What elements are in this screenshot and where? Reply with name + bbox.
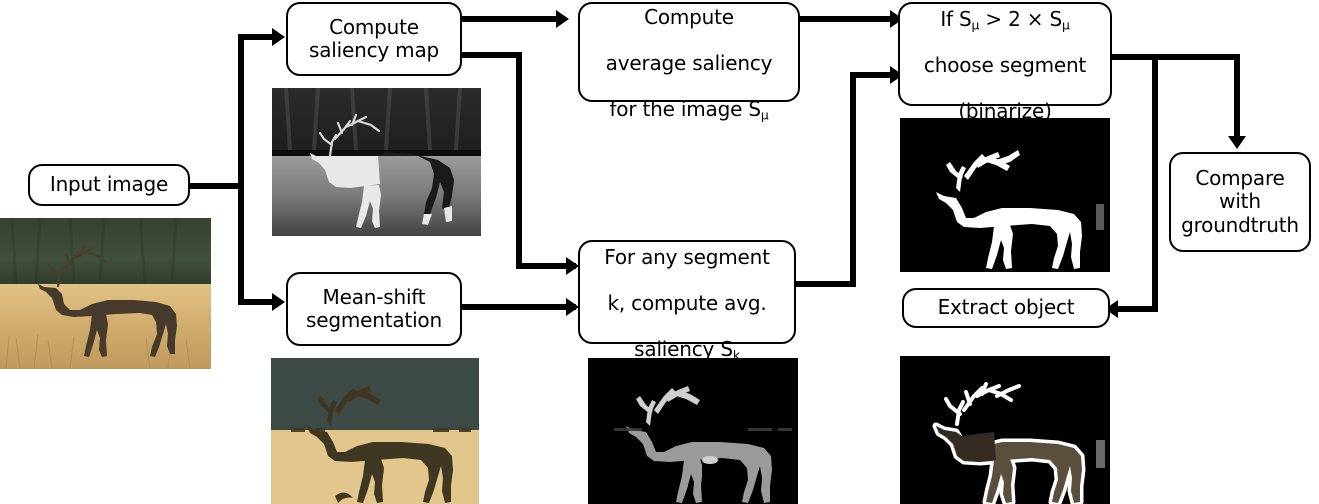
image-segment-saliency xyxy=(588,358,798,504)
edge-saliency-to-avg xyxy=(462,16,562,22)
image-extracted-object xyxy=(900,356,1110,504)
node-segment-average-saliency-label: For any segment k, compute avg. saliency… xyxy=(598,222,775,361)
image-meanshift-segmentation xyxy=(271,358,479,504)
arrowhead-to-compare xyxy=(1228,136,1246,149)
edge-segment-to-threshold-lower xyxy=(796,281,856,287)
image-saliency-map xyxy=(272,88,481,236)
edge-input-to-split xyxy=(189,183,244,189)
edge-avg-to-threshold xyxy=(800,16,898,22)
threshold-line-3: (binarize) xyxy=(958,99,1051,123)
node-input-image-label: Input image xyxy=(44,173,174,196)
arrowhead-to-meanshift xyxy=(272,293,285,311)
flowchart-canvas: Input image Compute saliency map Compute… xyxy=(0,0,1319,504)
node-compute-average-saliency-label: Compute average saliency for the image S… xyxy=(600,0,779,122)
edge-meanshift-to-segment xyxy=(462,304,576,310)
node-meanshift-segmentation[interactable]: Mean-shift segmentation xyxy=(286,272,462,346)
node-threshold-binarize-label: If Sμ > 2 × Sμ choose segment (binarize) xyxy=(918,0,1092,124)
image-input-photo xyxy=(0,218,211,369)
edge-saliency-to-segment-riser xyxy=(516,52,522,269)
node-compare-groundtruth-label: Compare with groundtruth xyxy=(1175,167,1305,237)
node-compute-saliency-map-label: Compute saliency map xyxy=(303,16,445,62)
edge-segment-to-threshold-riser xyxy=(850,72,856,287)
threshold-subscript-2: μ xyxy=(1062,17,1070,32)
arrowhead-to-avg-saliency xyxy=(556,10,569,28)
segment-line-3-subscript: k xyxy=(733,348,740,363)
avg-line-3: for the image Sμ xyxy=(609,97,768,121)
node-threshold-binarize[interactable]: If Sμ > 2 × Sμ choose segment (binarize) xyxy=(898,2,1112,106)
node-meanshift-segmentation-label: Mean-shift segmentation xyxy=(300,286,448,332)
avg-line-3-subscript: μ xyxy=(761,108,769,123)
node-input-image[interactable]: Input image xyxy=(28,164,190,206)
threshold-if-s: If S xyxy=(940,7,971,31)
avg-line-2: average saliency xyxy=(606,51,773,75)
edge-saliency-to-segment-top xyxy=(462,52,522,58)
segment-line-2: k, compute avg. xyxy=(607,291,766,315)
threshold-line-1: If Sμ > 2 × Sμ xyxy=(940,7,1069,31)
segment-line-3-text: saliency S xyxy=(634,337,733,361)
node-segment-average-saliency[interactable]: For any segment k, compute avg. saliency… xyxy=(578,240,796,344)
arrowhead-to-saliency-map xyxy=(272,28,285,46)
node-extract-object-label: Extract object xyxy=(932,296,1081,319)
edge-threshold-to-compare xyxy=(1234,54,1240,142)
segment-line-1: For any segment xyxy=(604,245,769,269)
edge-threshold-to-extract xyxy=(1116,306,1158,312)
image-binary-mask xyxy=(900,118,1110,272)
avg-line-3-text: for the image S xyxy=(609,97,760,121)
node-extract-object[interactable]: Extract object xyxy=(902,288,1110,328)
edge-split-riser xyxy=(238,37,244,302)
avg-line-1: Compute xyxy=(644,5,734,29)
node-compute-average-saliency[interactable]: Compute average saliency for the image S… xyxy=(578,2,800,102)
node-compute-saliency-map[interactable]: Compute saliency map xyxy=(286,2,462,76)
threshold-operator: > 2 × S xyxy=(979,7,1062,31)
segment-line-3: saliency Sk xyxy=(634,337,740,361)
node-compare-groundtruth[interactable]: Compare with groundtruth xyxy=(1169,152,1311,252)
edge-threshold-out xyxy=(1112,54,1240,60)
threshold-line-2: choose segment xyxy=(924,53,1086,77)
edge-threshold-to-extract-riser xyxy=(1152,54,1158,312)
